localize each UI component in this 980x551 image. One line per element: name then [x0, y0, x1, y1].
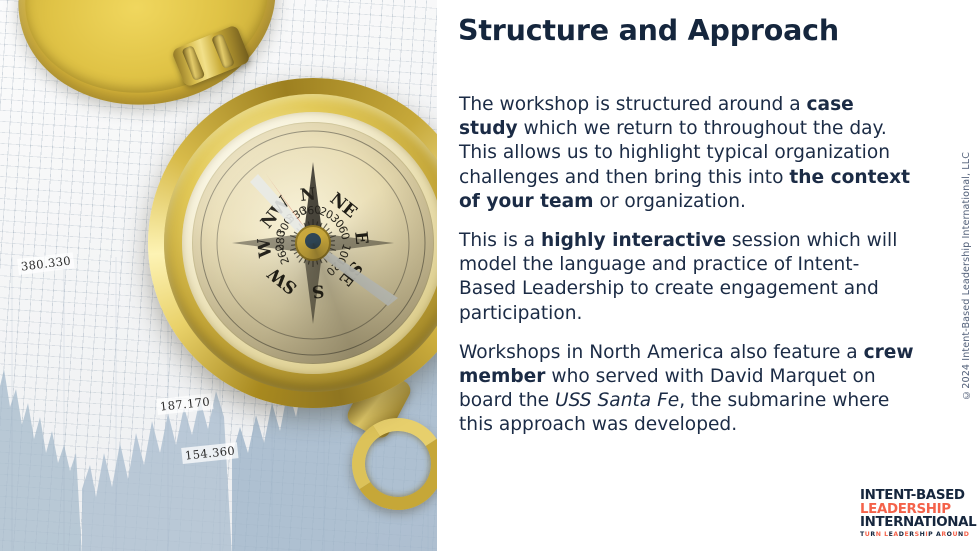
copyright-text: ©2024 Intent-Based Leadership Internatio…	[961, 152, 972, 400]
text-run: Workshops in North America also feature …	[459, 342, 864, 363]
emphasis-bold: highly interactive	[541, 230, 726, 251]
slide-root: 380.330 187.170 154.360	[0, 0, 980, 551]
body-paragraph: This is a highly interactive session whi…	[459, 229, 914, 326]
text-run: This is a	[459, 230, 541, 251]
logo-tagline: TURN LEADERSHIP AROUND	[860, 531, 964, 538]
logo-line-leadership: LEADERSHIP	[860, 503, 964, 517]
copyright-notice: ©2024 Intent-Based Leadership Internatio…	[955, 0, 977, 551]
emphasis-italic: USS Santa Fe	[555, 390, 679, 411]
page-title: Structure and Approach	[458, 14, 928, 47]
body-copy: The workshop is structured around a case…	[459, 93, 914, 438]
body-paragraph: Workshops in North America also feature …	[459, 341, 914, 438]
ibli-logo: INTENT-BASED LEADERSHIP INTERNATIONAL TU…	[860, 489, 964, 538]
compass-dial: 360 20 30 60 100 120 260 280 300 330 N N…	[192, 122, 434, 364]
compass-photo: 380.330 187.170 154.360	[0, 0, 437, 551]
text-run: The workshop is structured around a	[459, 94, 807, 115]
text-run: or organization.	[594, 191, 746, 212]
compass-body: 360 20 30 60 100 120 260 280 300 330 N N…	[148, 78, 437, 408]
logo-line-international: INTERNATIONAL	[860, 516, 964, 530]
logo-line-intent-based: INTENT-BASED	[860, 489, 964, 503]
body-paragraph: The workshop is structured around a case…	[459, 93, 914, 214]
content-panel: Structure and Approach The workshop is s…	[437, 0, 980, 551]
